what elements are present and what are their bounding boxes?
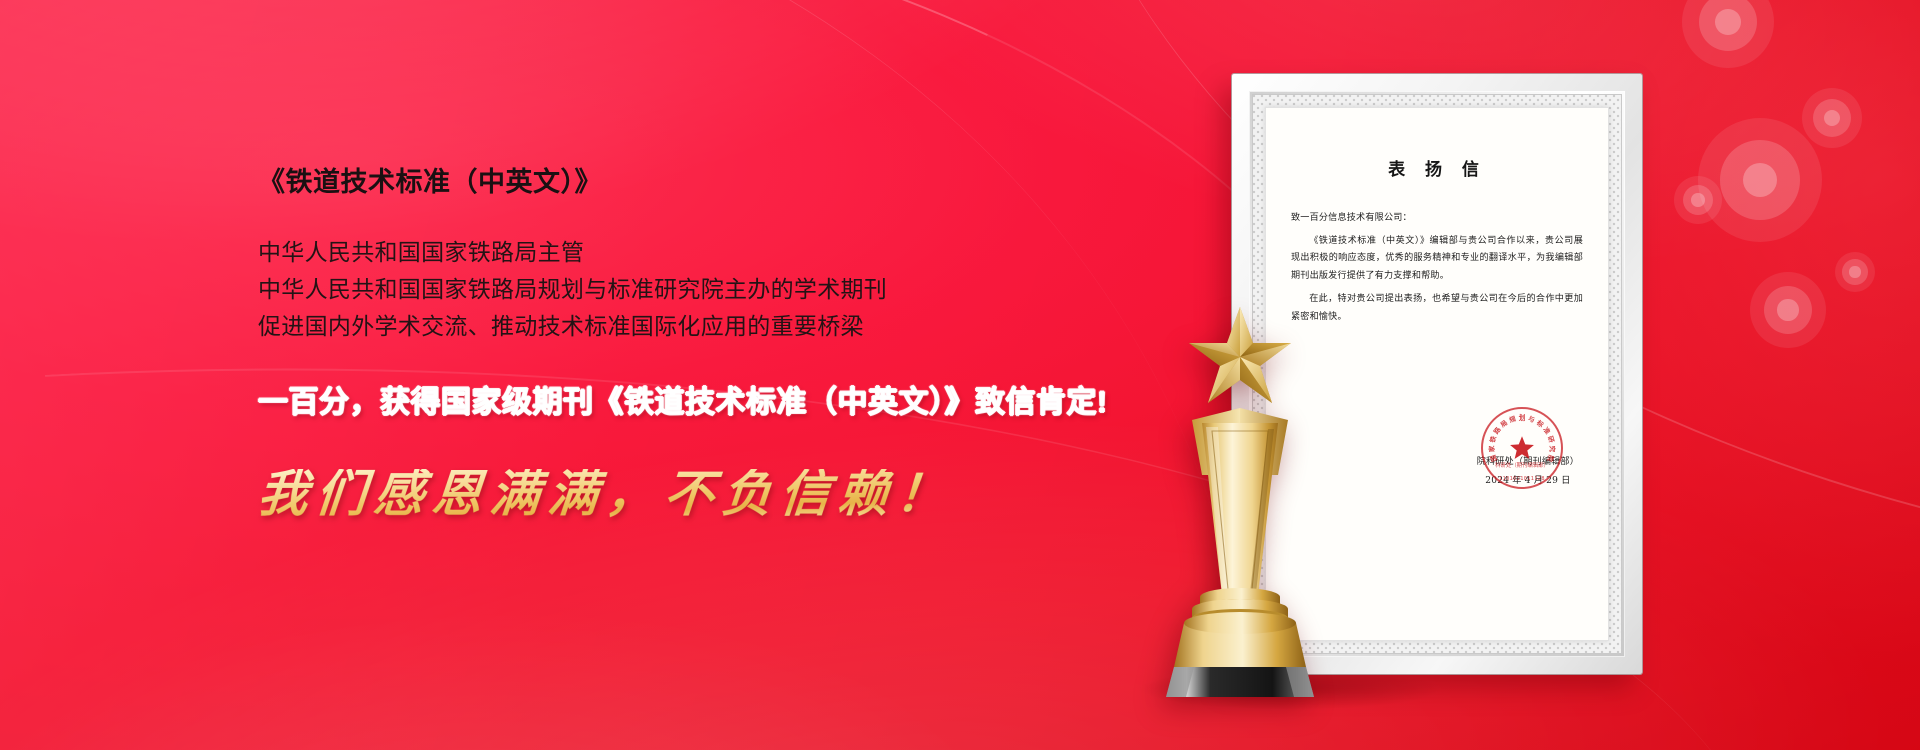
text-column: 《铁道技术标准（中英文）》 中华人民共和国国家铁路局主管 中华人民共和国国家铁路… <box>258 168 1138 519</box>
subtitle-line-1: 中华人民共和国国家铁路局主管 <box>258 234 1138 271</box>
headline: 一百分，获得国家级期刊《铁道技术标准（中英文）》致信肯定! <box>258 385 1138 421</box>
certificate-paragraph-1: 《铁道技术标准（中英文）》编辑部与贵公司合作以来，贵公司展现出积极的响应态度，优… <box>1291 233 1583 286</box>
certificate-signature: 院科研处（期刊编辑部） 2024 年 4 月 29 日 <box>1477 453 1579 491</box>
slogan-calligraphy: 我们感恩满满，不负信赖！ <box>256 469 1140 519</box>
certificate-title: 表 扬 信 <box>1291 155 1583 180</box>
signature-org: 院科研处（期刊编辑部） <box>1477 453 1579 472</box>
signature-date: 2024 年 4 月 29 日 <box>1477 472 1579 491</box>
journal-title: 《铁道技术标准（中英文）》 <box>258 168 1138 198</box>
subtitle-list: 中华人民共和国国家铁路局主管 中华人民共和国国家铁路局规划与标准研究院主办的学术… <box>258 234 1138 346</box>
certificate-salutation: 致一百分信息技术有限公司： <box>1291 210 1583 228</box>
gold-star-trophy-icon <box>1140 305 1340 700</box>
subtitle-line-2: 中华人民共和国国家铁路局规划与标准研究院主办的学术期刊 <box>258 271 1138 308</box>
subtitle-line-3: 促进国内外学术交流、推动技术标准国际化应用的重要桥梁 <box>258 308 1138 345</box>
promotional-banner: 《铁道技术标准（中英文）》 中华人民共和国国家铁路局主管 中华人民共和国国家铁路… <box>0 0 1920 750</box>
